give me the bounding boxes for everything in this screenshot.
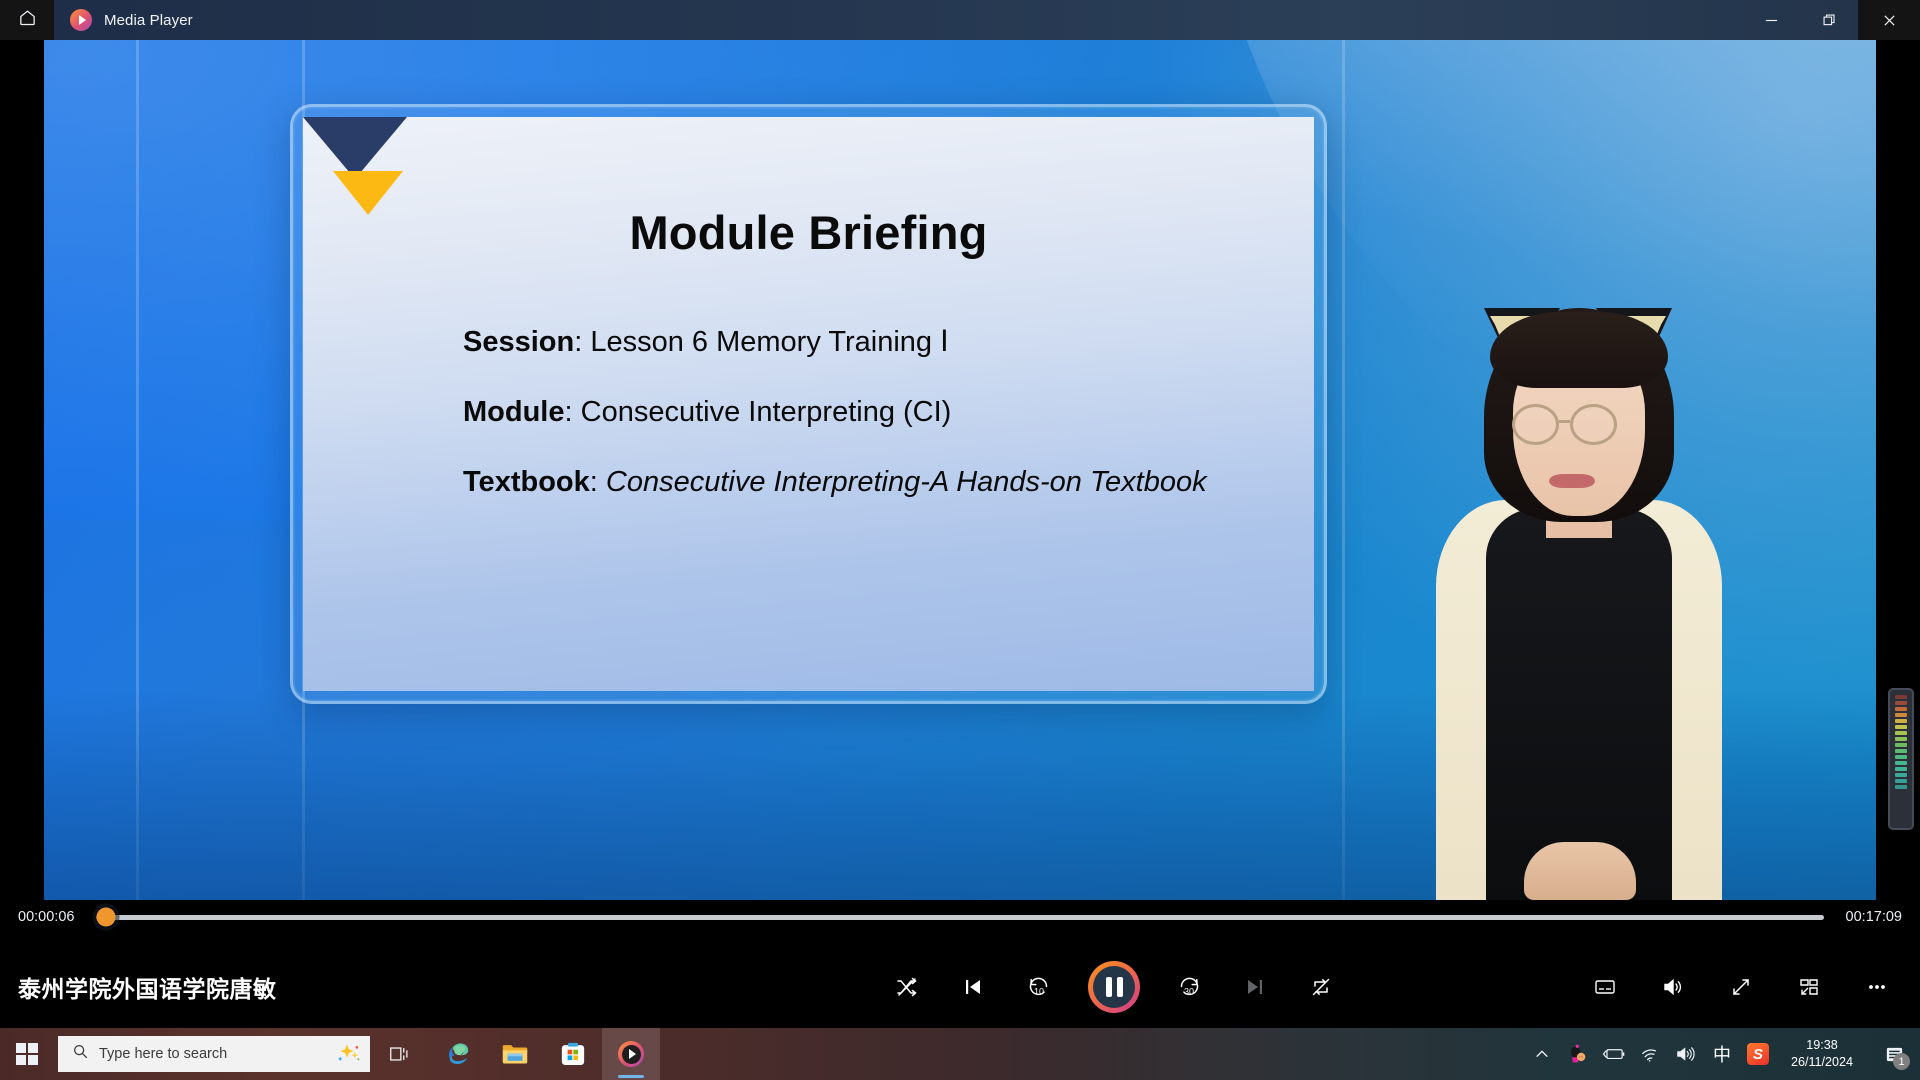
clock-date: 26/11/2024 [1784, 1054, 1860, 1071]
letterbox-left [0, 40, 44, 900]
search-placeholder: Type here to search [99, 1046, 324, 1062]
presenter-mouth [1549, 474, 1595, 488]
notification-center-button[interactable]: 1 [1872, 1028, 1916, 1080]
svg-text:10: 10 [1034, 987, 1044, 997]
presenter-fringe [1490, 312, 1668, 388]
taskbar-item-media-player[interactable] [602, 1028, 660, 1080]
presenter-glasses-left [1512, 404, 1559, 445]
presenter-glasses-bridge [1559, 420, 1570, 423]
miniplayer-icon[interactable] [1792, 970, 1826, 1004]
taskbar-item-file-explorer[interactable] [486, 1028, 544, 1080]
slide-title: Module Briefing [303, 205, 1314, 260]
slide-line-textbook-value: Consecutive Interpreting-A Hands-on Text… [606, 466, 1207, 498]
taskbar-item-microsoft-edge[interactable] [428, 1028, 486, 1080]
system-tray: 中 S 19:38 26/11/2024 1 [1524, 1028, 1920, 1080]
taskbar-search-input[interactable]: Type here to search [58, 1036, 370, 1072]
slide-line-textbook-sep: : [590, 466, 606, 498]
slide-line-module: Module: Consecutive Interpreting (CI) [463, 396, 1274, 429]
subtitles-icon[interactable] [1588, 970, 1622, 1004]
slide-line-session-sep: : [574, 326, 590, 358]
taskbar-apps [370, 1028, 660, 1080]
slide-body: Session: Lesson 6 Memory Training Ⅰ Modu… [463, 324, 1274, 536]
sogou-label: S [1747, 1043, 1769, 1065]
presenter-hands [1524, 842, 1636, 900]
minimize-button[interactable] [1742, 0, 1800, 40]
presenter-glasses-right [1570, 404, 1617, 445]
current-time: 00:00:06 [18, 909, 82, 925]
screen: Media Player [0, 0, 1920, 1080]
close-button[interactable] [1858, 0, 1920, 40]
sogou-input-icon[interactable]: S [1740, 1028, 1776, 1080]
slide-line-module-sep: : [565, 396, 581, 428]
clock-time: 19:38 [1784, 1037, 1860, 1054]
taskbar-active-indicator [618, 1075, 644, 1078]
start-button[interactable] [0, 1028, 54, 1080]
seek-bar-row: 00:00:06 00:17:09 [0, 900, 1920, 934]
app-identity: Media Player [70, 9, 1742, 31]
svg-text:30: 30 [1184, 987, 1194, 997]
more-options-icon[interactable] [1860, 970, 1894, 1004]
taskbar-clock[interactable]: 19:38 26/11/2024 [1776, 1037, 1872, 1071]
pause-icon [1093, 966, 1135, 1008]
slide-line-module-label: Module [463, 396, 565, 428]
home-icon [18, 8, 37, 32]
battery-charging-icon[interactable] [1596, 1028, 1632, 1080]
taskbar-item-task-view[interactable] [370, 1028, 428, 1080]
restore-button[interactable] [1800, 0, 1858, 40]
slide-line-textbook: Textbook: Consecutive Interpreting-A Han… [463, 466, 1274, 499]
total-time: 00:17:09 [1838, 909, 1902, 925]
slide-line-module-value: Consecutive Interpreting (CI) [581, 396, 952, 428]
rewind-10-icon[interactable]: 10 [1022, 970, 1056, 1004]
playback-controls: 10 30 [640, 961, 1588, 1013]
next-track-icon[interactable] [1238, 970, 1272, 1004]
video-stage[interactable]: Module Briefing Session: Lesson 6 Memory… [0, 40, 1920, 900]
speaker-icon[interactable] [1668, 1028, 1704, 1080]
presenter-video-overlay [1428, 308, 1728, 900]
shuffle-off-icon[interactable] [890, 970, 924, 1004]
volume-icon[interactable] [1656, 970, 1690, 1004]
window-controls [1742, 0, 1920, 40]
slide-line-session-value: Lesson 6 Memory Training Ⅰ [590, 326, 948, 358]
play-pause-button[interactable] [1088, 961, 1140, 1013]
triangle-navy-icon [303, 117, 407, 179]
app-title: Media Player [104, 12, 193, 29]
notification-badge: 1 [1893, 1053, 1910, 1070]
ime-label: 中 [1713, 1041, 1731, 1067]
search-icon [72, 1043, 89, 1065]
wifi-icon[interactable] [1632, 1028, 1668, 1080]
video-frame[interactable]: Module Briefing Session: Lesson 6 Memory… [44, 40, 1876, 900]
previous-track-icon[interactable] [956, 970, 990, 1004]
audio-level-meter [1888, 688, 1914, 830]
qq-icon[interactable] [1560, 1028, 1596, 1080]
ime-indicator[interactable]: 中 [1704, 1028, 1740, 1080]
seek-slider[interactable] [96, 915, 1824, 920]
copilot-sparkle-icon [334, 1042, 360, 1067]
transport-bar: 泰州学院外国语学院唐敏 10 [0, 934, 1920, 1040]
home-button[interactable] [0, 0, 54, 40]
now-playing: 泰州学院外国语学院唐敏 [0, 970, 640, 1004]
taskbar-item-microsoft-store[interactable] [544, 1028, 602, 1080]
video-title: 泰州学院外国语学院唐敏 [18, 970, 640, 1004]
slide-line-session: Session: Lesson 6 Memory Training Ⅰ [463, 324, 1274, 359]
secondary-controls [1588, 970, 1920, 1004]
slide-line-session-label: Session [463, 326, 574, 358]
slide-line-textbook-label: Textbook [463, 466, 590, 498]
window-titlebar: Media Player [0, 0, 1920, 40]
slide-frame: Module Briefing Session: Lesson 6 Memory… [290, 104, 1327, 704]
fullscreen-icon[interactable] [1724, 970, 1758, 1004]
windows-taskbar: Type here to search [0, 1028, 1920, 1080]
seek-thumb[interactable] [97, 908, 116, 927]
media-player-logo-icon [70, 9, 92, 31]
media-player-taskbar-icon [618, 1041, 644, 1067]
presentation-slide: Module Briefing Session: Lesson 6 Memory… [303, 117, 1314, 691]
repeat-off-icon[interactable] [1304, 970, 1338, 1004]
forward-30-icon[interactable]: 30 [1172, 970, 1206, 1004]
chevron-up-icon[interactable] [1524, 1028, 1560, 1080]
windows-logo-icon [16, 1043, 38, 1065]
